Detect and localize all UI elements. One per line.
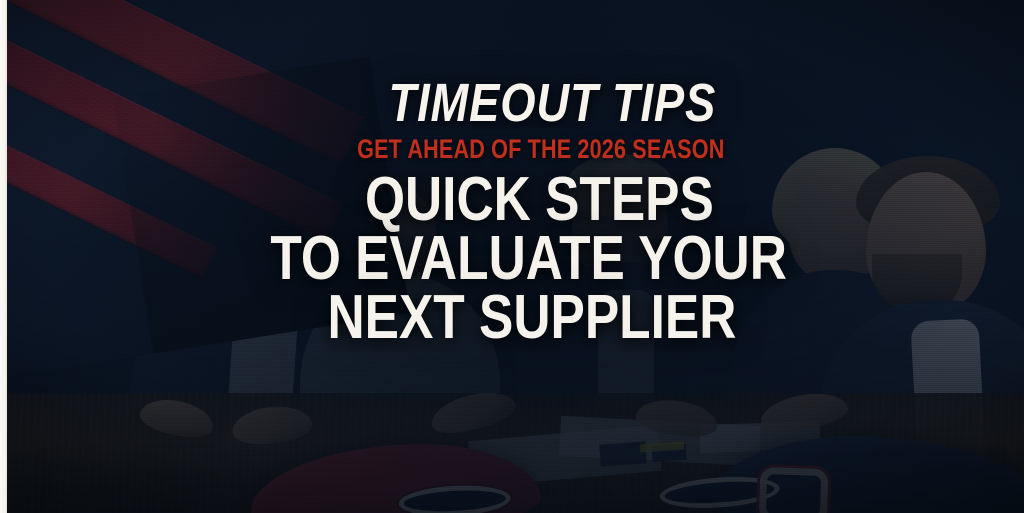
main-headline: QUICK STEPS TO EVALUATE YOUR NEXT SUPPLI…: [0, 171, 1024, 348]
left-edge-strip: [0, 0, 7, 513]
headline-line-3: NEXT SUPPLIER: [87, 289, 937, 348]
headline-line-1: QUICK STEPS: [87, 171, 937, 230]
kicker-subtitle: GET AHEAD OF THE 2026 SEASON: [102, 136, 921, 163]
headline-block: TIMEOUT TIPS GET AHEAD OF THE 2026 SEASO…: [0, 0, 1024, 348]
promo-banner: TIMEOUT TIPS GET AHEAD OF THE 2026 SEASO…: [0, 0, 1024, 513]
headline-line-2: TO EVALUATE YOUR: [87, 230, 937, 289]
eyebrow-title: TIMEOUT TIPS: [82, 78, 942, 130]
